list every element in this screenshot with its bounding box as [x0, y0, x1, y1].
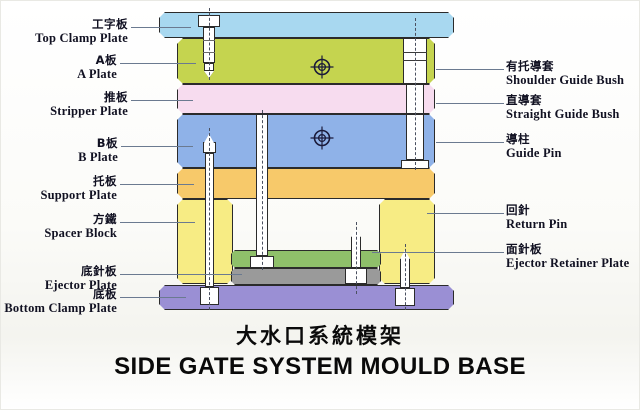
leader-b-plate	[121, 146, 193, 147]
part-stripper-plate	[177, 84, 435, 114]
label-support-plate: 托板 Support Plate	[40, 175, 117, 202]
label-straight-guide-bush-cn: 直導套	[506, 94, 620, 107]
return-pin-far-right-centerline	[405, 244, 406, 310]
title-block: 大水口系統模架 SIDE GATE SYSTEM MOULD BASE	[0, 320, 640, 381]
page-title-cn: 大水口系統模架	[0, 320, 640, 350]
label-shoulder-guide-bush-en: Shoulder Guide Bush	[506, 73, 624, 87]
label-stripper-plate: 推板 Stripper Plate	[50, 91, 128, 118]
leader-straight-guide-bush	[436, 103, 504, 104]
return-pin-left-centerline	[209, 128, 210, 310]
leader-ejector-retainer-plate	[372, 252, 504, 253]
label-stripper-plate-en: Stripper Plate	[50, 104, 128, 118]
label-return-pin-en: Return Pin	[506, 217, 567, 231]
label-a-plate: A板 A Plate	[77, 54, 117, 81]
label-support-plate-en: Support Plate	[40, 188, 117, 202]
label-ejector-retainer-plate-cn: 面針板	[506, 243, 629, 256]
label-ejector-retainer-plate-en: Ejector Retainer Plate	[506, 256, 629, 270]
label-top-clamp-plate-cn: 工字板	[35, 18, 128, 31]
top-clamp-bolt-centerline	[209, 8, 210, 80]
label-bottom-clamp-plate-en: Bottom Clamp Plate	[4, 301, 117, 315]
top-clamp-bolt-thread-line-1	[203, 40, 215, 41]
ejector-pin-center-centerline	[262, 110, 263, 270]
leader-top-clamp-plate	[131, 27, 191, 28]
leader-a-plate	[120, 63, 196, 64]
label-ejector-plate-cn: 底針板	[45, 265, 117, 278]
label-spacer-block-en: Spacer Block	[44, 226, 117, 240]
label-shoulder-guide-bush: 有托導套 Shoulder Guide Bush	[506, 60, 624, 87]
label-bottom-clamp-plate-cn: 底板	[4, 288, 117, 301]
label-spacer-block-cn: 方鐵	[44, 213, 117, 226]
leader-return-pin	[427, 213, 504, 214]
label-bottom-clamp-plate: 底板 Bottom Clamp Plate	[4, 288, 117, 315]
label-guide-pin-en: Guide Pin	[506, 146, 562, 160]
label-stripper-plate-cn: 推板	[50, 91, 128, 104]
page-title-en: SIDE GATE SYSTEM MOULD BASE	[0, 353, 640, 381]
locating-ring-symbol-a-plate	[310, 55, 334, 79]
label-a-plate-cn: A板	[77, 54, 117, 67]
label-b-plate-cn: B板	[78, 137, 118, 150]
label-return-pin-cn: 回針	[506, 204, 567, 217]
label-straight-guide-bush-en: Straight Guide Bush	[506, 107, 620, 121]
part-b-plate	[177, 114, 435, 168]
leader-shoulder-guide-bush	[436, 69, 504, 70]
part-a-plate	[177, 38, 435, 84]
label-ejector-retainer-plate: 面針板 Ejector Retainer Plate	[506, 243, 629, 270]
label-return-pin: 回針 Return Pin	[506, 204, 567, 231]
label-top-clamp-plate-en: Top Clamp Plate	[35, 31, 128, 45]
leader-support-plate	[120, 184, 194, 185]
label-b-plate: B板 B Plate	[78, 137, 118, 164]
locating-ring-symbol-b-plate	[310, 126, 334, 150]
label-straight-guide-bush: 直導套 Straight Guide Bush	[506, 94, 620, 121]
label-b-plate-en: B Plate	[78, 150, 118, 164]
label-a-plate-en: A Plate	[77, 67, 117, 81]
label-guide-pin-cn: 導柱	[506, 133, 562, 146]
leader-guide-pin	[436, 142, 504, 143]
guide-pin-centerline	[415, 18, 416, 170]
leader-stripper-plate	[131, 100, 193, 101]
label-shoulder-guide-bush-cn: 有托導套	[506, 60, 624, 73]
label-top-clamp-plate: 工字板 Top Clamp Plate	[35, 18, 128, 45]
label-support-plate-cn: 托板	[40, 175, 117, 188]
leader-bottom-clamp-plate	[120, 297, 186, 298]
return-pin-right-centerline	[356, 222, 357, 294]
leader-spacer-block	[120, 222, 195, 223]
label-spacer-block: 方鐵 Spacer Block	[44, 213, 117, 240]
part-support-plate	[177, 168, 435, 199]
label-guide-pin: 導柱 Guide Pin	[506, 133, 562, 160]
leader-ejector-plate	[120, 274, 242, 275]
diagram-page: 工字板 Top Clamp Plate A板 A Plate 推板 Stripp…	[0, 0, 640, 410]
top-clamp-bolt-thread-line-2	[203, 52, 215, 53]
